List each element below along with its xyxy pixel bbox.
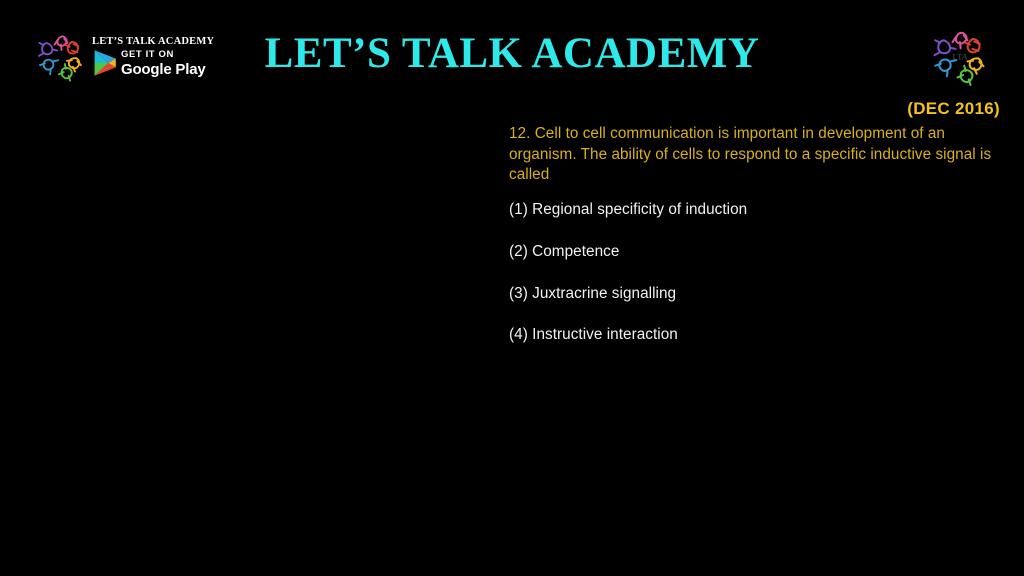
slide-header: LET’S TALK ACADEMY GET IT ON Google Play… (0, 0, 1024, 96)
options-list: (1) Regional specificity of induction (2… (509, 201, 1001, 345)
exam-date-badge: (DEC 2016) (907, 99, 1000, 119)
svg-text:LTA: LTA (952, 52, 967, 61)
option-item[interactable]: (4) Instructive interaction (509, 326, 1001, 344)
option-item[interactable]: (2) Competence (509, 243, 1001, 261)
option-item[interactable]: (3) Juxtracrine signalling (509, 285, 1001, 303)
question-block: 12. Cell to cell communication is import… (509, 124, 1001, 368)
option-item[interactable]: (1) Regional specificity of induction (509, 201, 1001, 219)
lta-ring-logo-icon: LTA (929, 26, 991, 88)
page-title: LET’S TALK ACADEMY (0, 30, 1024, 77)
question-text: 12. Cell to cell communication is import… (509, 124, 1001, 186)
